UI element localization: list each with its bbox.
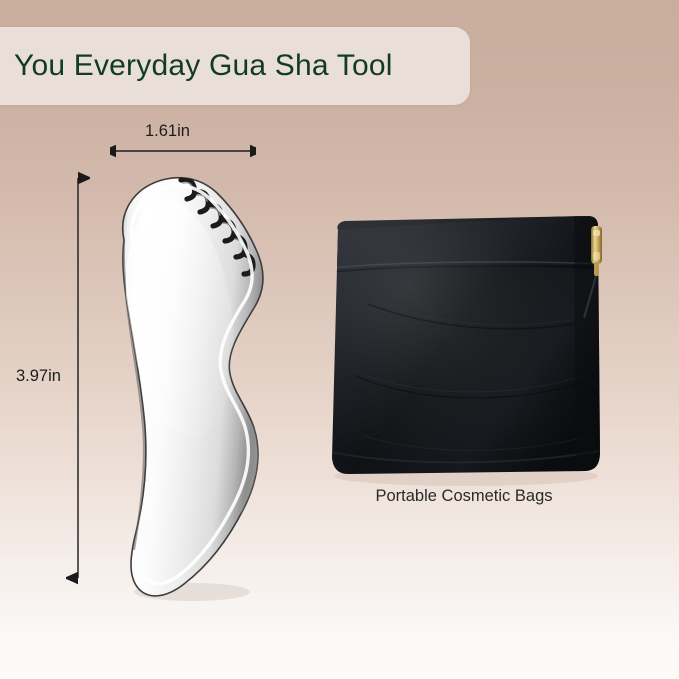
page-title: You Everyday Gua Sha Tool — [14, 27, 393, 105]
height-dimension-label: 3.97in — [16, 367, 61, 386]
bag-gloss — [312, 200, 618, 492]
bag-caption: Portable Cosmetic Bags — [330, 487, 598, 506]
width-dimension-label: 1.61in — [145, 122, 190, 141]
height-dimension-arrow — [66, 170, 90, 586]
width-dimension-arrow — [110, 140, 256, 162]
cosmetic-bag — [312, 200, 618, 492]
title-banner: You Everyday Gua Sha Tool — [0, 27, 470, 105]
product-infographic: You Everyday Gua Sha Tool 1.61in 3.97in — [0, 0, 679, 679]
gua-sha-tool — [88, 168, 278, 604]
